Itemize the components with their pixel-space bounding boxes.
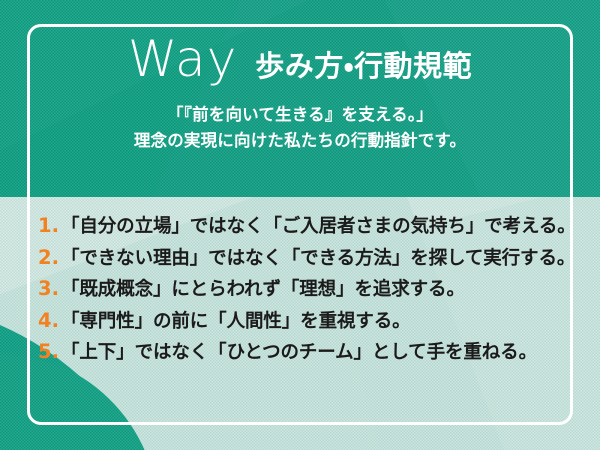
list-item: 3. 「既成概念」にとらわれず「理想」を追求する。 [38,277,568,302]
list-item-number: 4. [38,309,59,334]
list-item-number: 5. [38,340,59,365]
way-poster: Way 歩み方・行動規範 「『前を向いて生きる』を支える。」 理念の実現に向けた… [0,0,600,450]
lead-paragraph: 「『前を向いて生きる』を支える。」 理念の実現に向けた私たちの行動指針です。 [134,102,466,154]
lead-line-2: 理念の実現に向けた私たちの行動指針です。 [134,128,466,154]
list-item-number: 2. [38,246,59,271]
page-title-english: Way [128,34,237,84]
list-item: 1. 「自分の立場」ではなく「ご入居者さまの気持ち」で考える。 [38,214,568,239]
list-item-text: 「できない理由」ではなく「できる方法」を探して実行する。 [61,246,575,269]
list-item-text: 「自分の立場」ではなく「ご入居者さまの気持ち」で考える。 [61,214,576,237]
poster-header: Way 歩み方・行動規範 「『前を向いて生きる』を支える。」 理念の実現に向けた… [0,0,600,197]
list-item-number: 1. [38,214,59,239]
list-item-number: 3. [38,277,59,302]
list-item: 4. 「専門性」の前に「人間性」を重視する。 [38,309,568,334]
principles-list: 1. 「自分の立場」ではなく「ご入居者さまの気持ち」で考える。 2. 「できない… [38,214,568,365]
list-item-text: 「既成概念」にとらわれず「理想」を追求する。 [61,277,465,300]
list-item-text: 「専門性」の前に「人間性」を重視する。 [61,309,411,332]
list-item: 2. 「できない理由」ではなく「できる方法」を探して実行する。 [38,246,568,271]
list-item: 5. 「上下」ではなく「ひとつのチーム」として手を重ねる。 [38,340,568,365]
page-title-japanese: 歩み方・行動規範 [255,53,472,82]
title-row: Way 歩み方・行動規範 [128,34,472,84]
lead-line-1: 「『前を向いて生きる』を支える。」 [134,102,466,128]
list-item-text: 「上下」ではなく「ひとつのチーム」として手を重ねる。 [61,340,537,363]
